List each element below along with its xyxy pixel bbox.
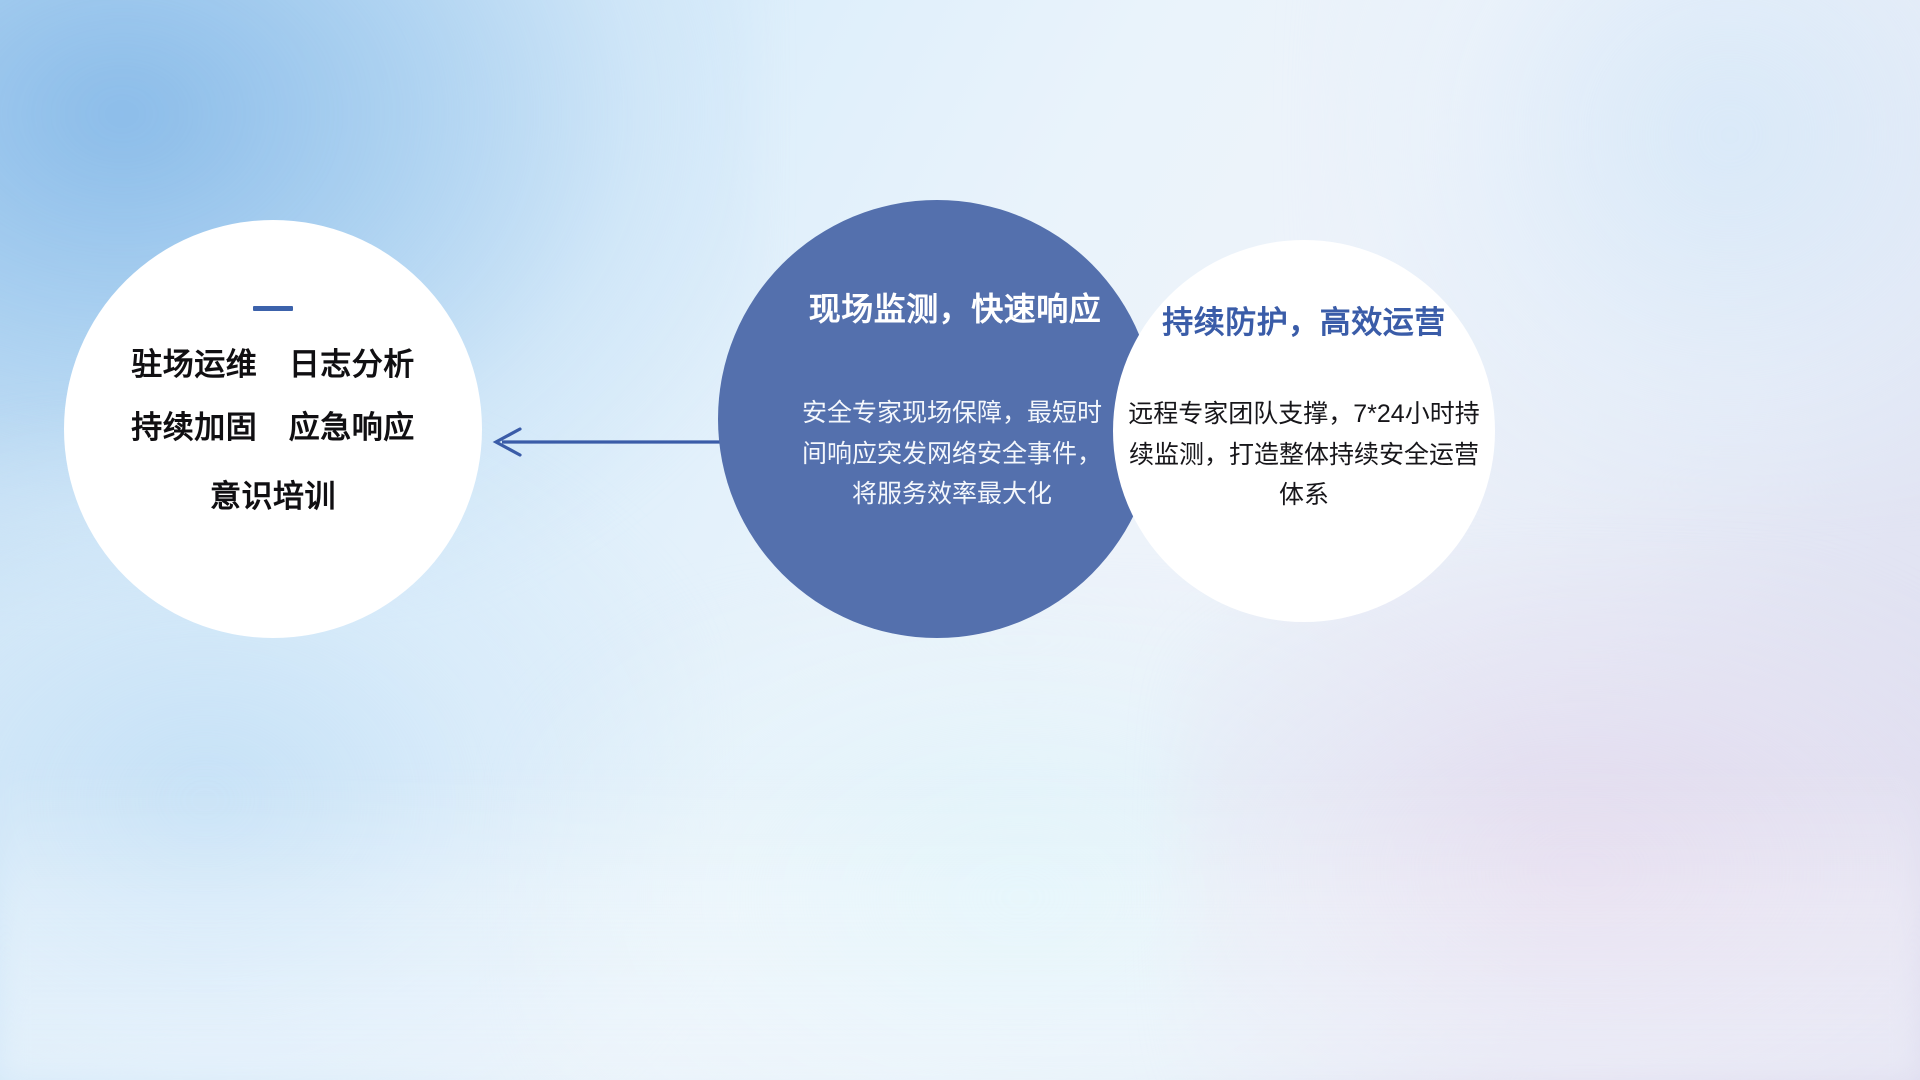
middle-service-circle: 现场监测，快速响应 安全专家现场保障，最短时间响应突发网络安全事件，将服务效率最… xyxy=(718,200,1156,638)
left-card-line-1: 驻场运维 日志分析 xyxy=(131,349,415,380)
left-card-line-3: 意识培训 xyxy=(210,481,336,512)
middle-card-title: 现场监测，快速响应 xyxy=(809,292,1102,327)
slide-canvas: 驻场运维 日志分析 持续加固 应急响应 意识培训 现场监测，快速响应 安全专家现… xyxy=(0,0,1920,1080)
right-card-title: 持续防护，高效运营 xyxy=(1162,306,1446,340)
title-divider-dash xyxy=(253,306,293,311)
right-service-circle: 持续防护，高效运营 远程专家团队支撑，7*24小时持续监测，打造整体持续安全运营… xyxy=(1113,240,1495,622)
left-outcome-circle: 驻场运维 日志分析 持续加固 应急响应 意识培训 xyxy=(64,220,482,638)
arrow-left-icon xyxy=(480,412,730,472)
left-card-line-2: 持续加固 应急响应 xyxy=(131,412,415,443)
right-card-body: 远程专家团队支撑，7*24小时持续监测，打造整体持续安全运营体系 xyxy=(1128,394,1480,516)
background-sheen xyxy=(0,760,1920,1080)
middle-card-body: 安全专家现场保障，最短时间响应突发网络安全事件，将服务效率最大化 xyxy=(802,393,1102,515)
